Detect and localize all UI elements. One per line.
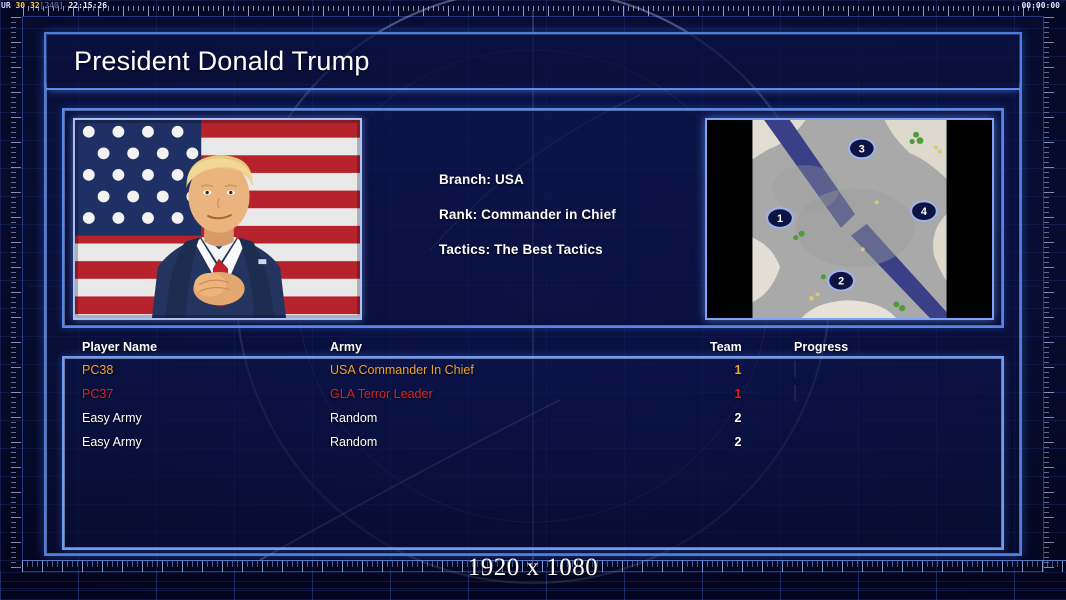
- player-army: GLA Terror Leader: [330, 387, 433, 401]
- game-loading-screen: UR 30 32[240] 22:15:26 00:00:00 Presiden…: [0, 0, 1066, 600]
- player-info-block: Branch: USA Rank: Commander in Chief Tac…: [439, 172, 616, 257]
- player-team: 2: [726, 435, 750, 449]
- table-row: PC38 USA Commander In Chief 1: [64, 358, 1002, 382]
- svg-text:2: 2: [838, 276, 844, 288]
- player-team: 1: [726, 387, 750, 401]
- player-name: PC37: [82, 387, 113, 401]
- player-progress: [794, 386, 986, 401]
- column-header-army: Army: [330, 340, 362, 354]
- map-preview: 3 4 1 2: [705, 118, 994, 320]
- osd-fps: 30: [15, 1, 25, 10]
- osd-frame: 32: [30, 1, 40, 10]
- player-army: Random: [330, 435, 377, 449]
- page-title: President Donald Trump: [74, 46, 370, 77]
- column-header-team: Team: [710, 340, 742, 354]
- donald-trump-us-flag-photo: [75, 120, 360, 318]
- start-position-1: 1: [767, 208, 793, 228]
- player-name: Easy Army: [82, 435, 142, 449]
- map-preview-thumbnail: 3 4 1 2: [707, 120, 992, 318]
- player-progress: [794, 362, 986, 377]
- ruler-left: [11, 17, 22, 571]
- svg-text:4: 4: [921, 206, 927, 218]
- info-tactics: Tactics: The Best Tactics: [439, 242, 616, 257]
- table-row: PC37 GLA Terror Leader 1: [64, 382, 1002, 406]
- start-position-2: 2: [828, 271, 854, 291]
- osd-left-stats: UR 30 32[240] 22:15:26: [1, 0, 107, 12]
- osd-bracket: [240]: [40, 1, 64, 10]
- start-position-4: 4: [911, 201, 937, 221]
- start-position-3: 3: [849, 139, 875, 159]
- info-branch: Branch: USA: [439, 172, 616, 187]
- ruler-right: [1044, 17, 1055, 571]
- resolution-label: 1920 x 1080: [0, 554, 1066, 582]
- player-list-headers: Player Name Army Team Progress: [62, 340, 1004, 356]
- player-name: Easy Army: [82, 411, 142, 425]
- info-rank: Rank: Commander in Chief: [439, 207, 616, 222]
- profile-panel: Branch: USA Rank: Commander in Chief Tac…: [62, 108, 1004, 328]
- title-bar: President Donald Trump: [46, 34, 1020, 90]
- table-row: Easy Army Random 2: [64, 406, 1002, 430]
- column-header-progress: Progress: [794, 340, 848, 354]
- player-list-panel: PC38 USA Commander In Chief 1 PC37 GLA T…: [62, 356, 1004, 550]
- svg-text:3: 3: [859, 143, 865, 155]
- progress-bar: [794, 361, 796, 377]
- osd-ur-label: UR: [1, 1, 11, 10]
- player-army: USA Commander In Chief: [330, 363, 474, 377]
- player-name: PC38: [82, 363, 113, 377]
- progress-bar: [794, 385, 796, 401]
- player-team: 1: [726, 363, 750, 377]
- player-portrait: [73, 118, 362, 320]
- table-row: Easy Army Random 2: [64, 430, 1002, 454]
- column-header-player-name: Player Name: [82, 340, 157, 354]
- svg-text:1: 1: [777, 213, 783, 225]
- osd-overlay: UR 30 32[240] 22:15:26 00:00:00: [0, 0, 1066, 12]
- player-team: 2: [726, 411, 750, 425]
- osd-timer: 00:00:00: [1021, 0, 1060, 12]
- osd-clock: 22:15:26: [69, 1, 108, 10]
- player-army: Random: [330, 411, 377, 425]
